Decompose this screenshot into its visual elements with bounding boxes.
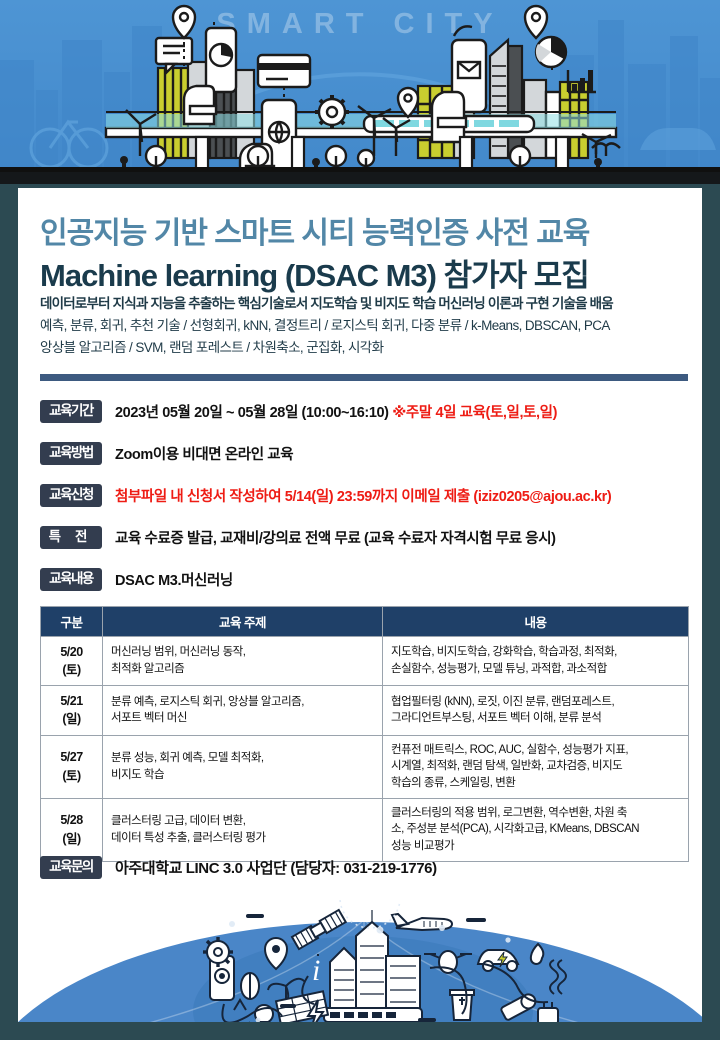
- badge-curriculum: 교육내용: [40, 568, 102, 591]
- info-text-period: 2023년 05월 20일 ~ 05월 28일 (10:00~16:10) ※주…: [115, 401, 557, 422]
- bottom-icons-svg: .w{fill:#fff;stroke:#16253a;stroke-width…: [18, 900, 706, 1026]
- table-row: 5/28 (일) 클러스터링 고급, 데이터 변환, 데이터 특성 추출, 클러…: [41, 798, 689, 861]
- badge-period: 교육기간: [40, 400, 102, 423]
- svg-text:i: i: [312, 954, 320, 987]
- subtitle-line1: 데이터로부터 지식과 지능을 추출하는 핵심기술로서 지도학습 및 비지도 학습…: [40, 292, 613, 312]
- table-header-topic: 교육 주제: [103, 607, 383, 637]
- cell-date: 5/21 (일): [41, 686, 103, 735]
- table-header-content: 내용: [383, 607, 689, 637]
- cell-content: 컨퓨전 매트릭스, ROC, AUC, 실함수, 성능평가 지표, 시계열, 최…: [383, 735, 689, 798]
- badge-contact: 교육문의: [40, 856, 102, 879]
- info-row-benefits: 특전 교육 수료증 발급, 교재비/강의료 전액 무료 (교육 수료자 자격시험…: [40, 526, 556, 549]
- cell-content: 협업필터링 (kNN), 로짓, 이진 분류, 랜덤포레스트, 그라디언트부스팅…: [383, 686, 689, 735]
- table-row: 5/21 (일) 분류 예측, 로지스틱 회귀, 앙상블 알고리즘, 서포트 벡…: [41, 686, 689, 735]
- section-divider: [40, 374, 688, 381]
- table-header-row: 구분 교육 주제 내용: [41, 607, 689, 637]
- hero-city-svg: .k{fill:none;stroke:#1b1b1b;stroke-width…: [0, 0, 720, 172]
- page-title-line2: Machine learning (DSAC M3) 참가자 모집: [40, 250, 589, 295]
- info-text-method: Zoom이용 비대면 온라인 교육: [115, 443, 293, 464]
- cell-date: 5/27 (토): [41, 735, 103, 798]
- cell-content: 클러스터링의 적용 범위, 로그변환, 역수변환, 차원 축 소, 주성분 분석…: [383, 798, 689, 861]
- info-row-curriculum: 교육내용 DSAC M3.머신러닝: [40, 568, 233, 591]
- info-row-contact: 교육문의 아주대학교 LINC 3.0 사업단 (담당자: 031-219-17…: [40, 856, 437, 879]
- badge-method: 교육방법: [40, 442, 102, 465]
- cell-topic: 분류 성능, 회귀 예측, 모델 최적화, 비지도 학습: [103, 735, 383, 798]
- cell-topic: 머신러닝 범위, 머신러닝 동작, 최적화 알고리즘: [103, 637, 383, 686]
- cell-topic: 클러스터링 고급, 데이터 변환, 데이터 특성 추출, 클러스터링 평가: [103, 798, 383, 861]
- black-divider-strip: [0, 172, 720, 184]
- table-header-division: 구분: [41, 607, 103, 637]
- hero-illustration: SMART CITY .k{fill:none;stroke:#1b1b1b;s…: [0, 0, 720, 172]
- cell-date: 5/28 (일): [41, 798, 103, 861]
- table-row: 5/20 (토) 머신러닝 범위, 머신러닝 동작, 최적화 알고리즘 지도학습…: [41, 637, 689, 686]
- content-card: 인공지능 기반 스마트 시티 능력인증 사전 교육 Machine learni…: [14, 184, 706, 994]
- page-title-line1: 인공지능 기반 스마트 시티 능력인증 사전 교육: [40, 208, 589, 252]
- info-row-application: 교육신청 첨부파일 내 신청서 작성하여 5/14(일) 23:59까지 이메일…: [40, 484, 611, 507]
- info-text-benefits: 교육 수료증 발급, 교재비/강의료 전액 무료 (교육 수료자 자격시험 무료…: [115, 527, 556, 548]
- cell-topic: 분류 예측, 로지스틱 회귀, 앙상블 알고리즘, 서포트 벡터 머신: [103, 686, 383, 735]
- badge-application: 교육신청: [40, 484, 102, 507]
- table-row: 5/27 (토) 분류 성능, 회귀 예측, 모델 최적화, 비지도 학습 컨퓨…: [41, 735, 689, 798]
- cell-content: 지도학습, 비지도학습, 강화학습, 학습과정, 최적화, 손실함수, 성능평가…: [383, 637, 689, 686]
- schedule-table: 구분 교육 주제 내용 5/20 (토) 머신러닝 범위, 머신러닝 동작, 최…: [40, 606, 689, 862]
- subtitle-line2: 예측, 분류, 회귀, 추천 기술 / 선형회귀, kNN, 결정트리 / 로지…: [40, 314, 610, 334]
- subtitle-line3: 앙상블 알고리즘 / SVM, 랜덤 포레스트 / 차원축소, 군집화, 시각화: [40, 336, 383, 356]
- poster-root: SMART CITY .k{fill:none;stroke:#1b1b1b;s…: [0, 0, 720, 1040]
- info-text-application: 첨부파일 내 신청서 작성하여 5/14(일) 23:59까지 이메일 제출 (…: [115, 485, 611, 506]
- info-row-period: 교육기간 2023년 05월 20일 ~ 05월 28일 (10:00~16:1…: [40, 400, 557, 423]
- cell-date: 5/20 (토): [41, 637, 103, 686]
- info-text-contact: 아주대학교 LINC 3.0 사업단 (담당자: 031-219-1776): [115, 857, 437, 878]
- bottom-illustration: .w{fill:#fff;stroke:#16253a;stroke-width…: [14, 900, 706, 1026]
- info-row-method: 교육방법 Zoom이용 비대면 온라인 교육: [40, 442, 293, 465]
- badge-benefits: 특전: [40, 526, 102, 549]
- info-text-curriculum: DSAC M3.머신러닝: [115, 569, 233, 590]
